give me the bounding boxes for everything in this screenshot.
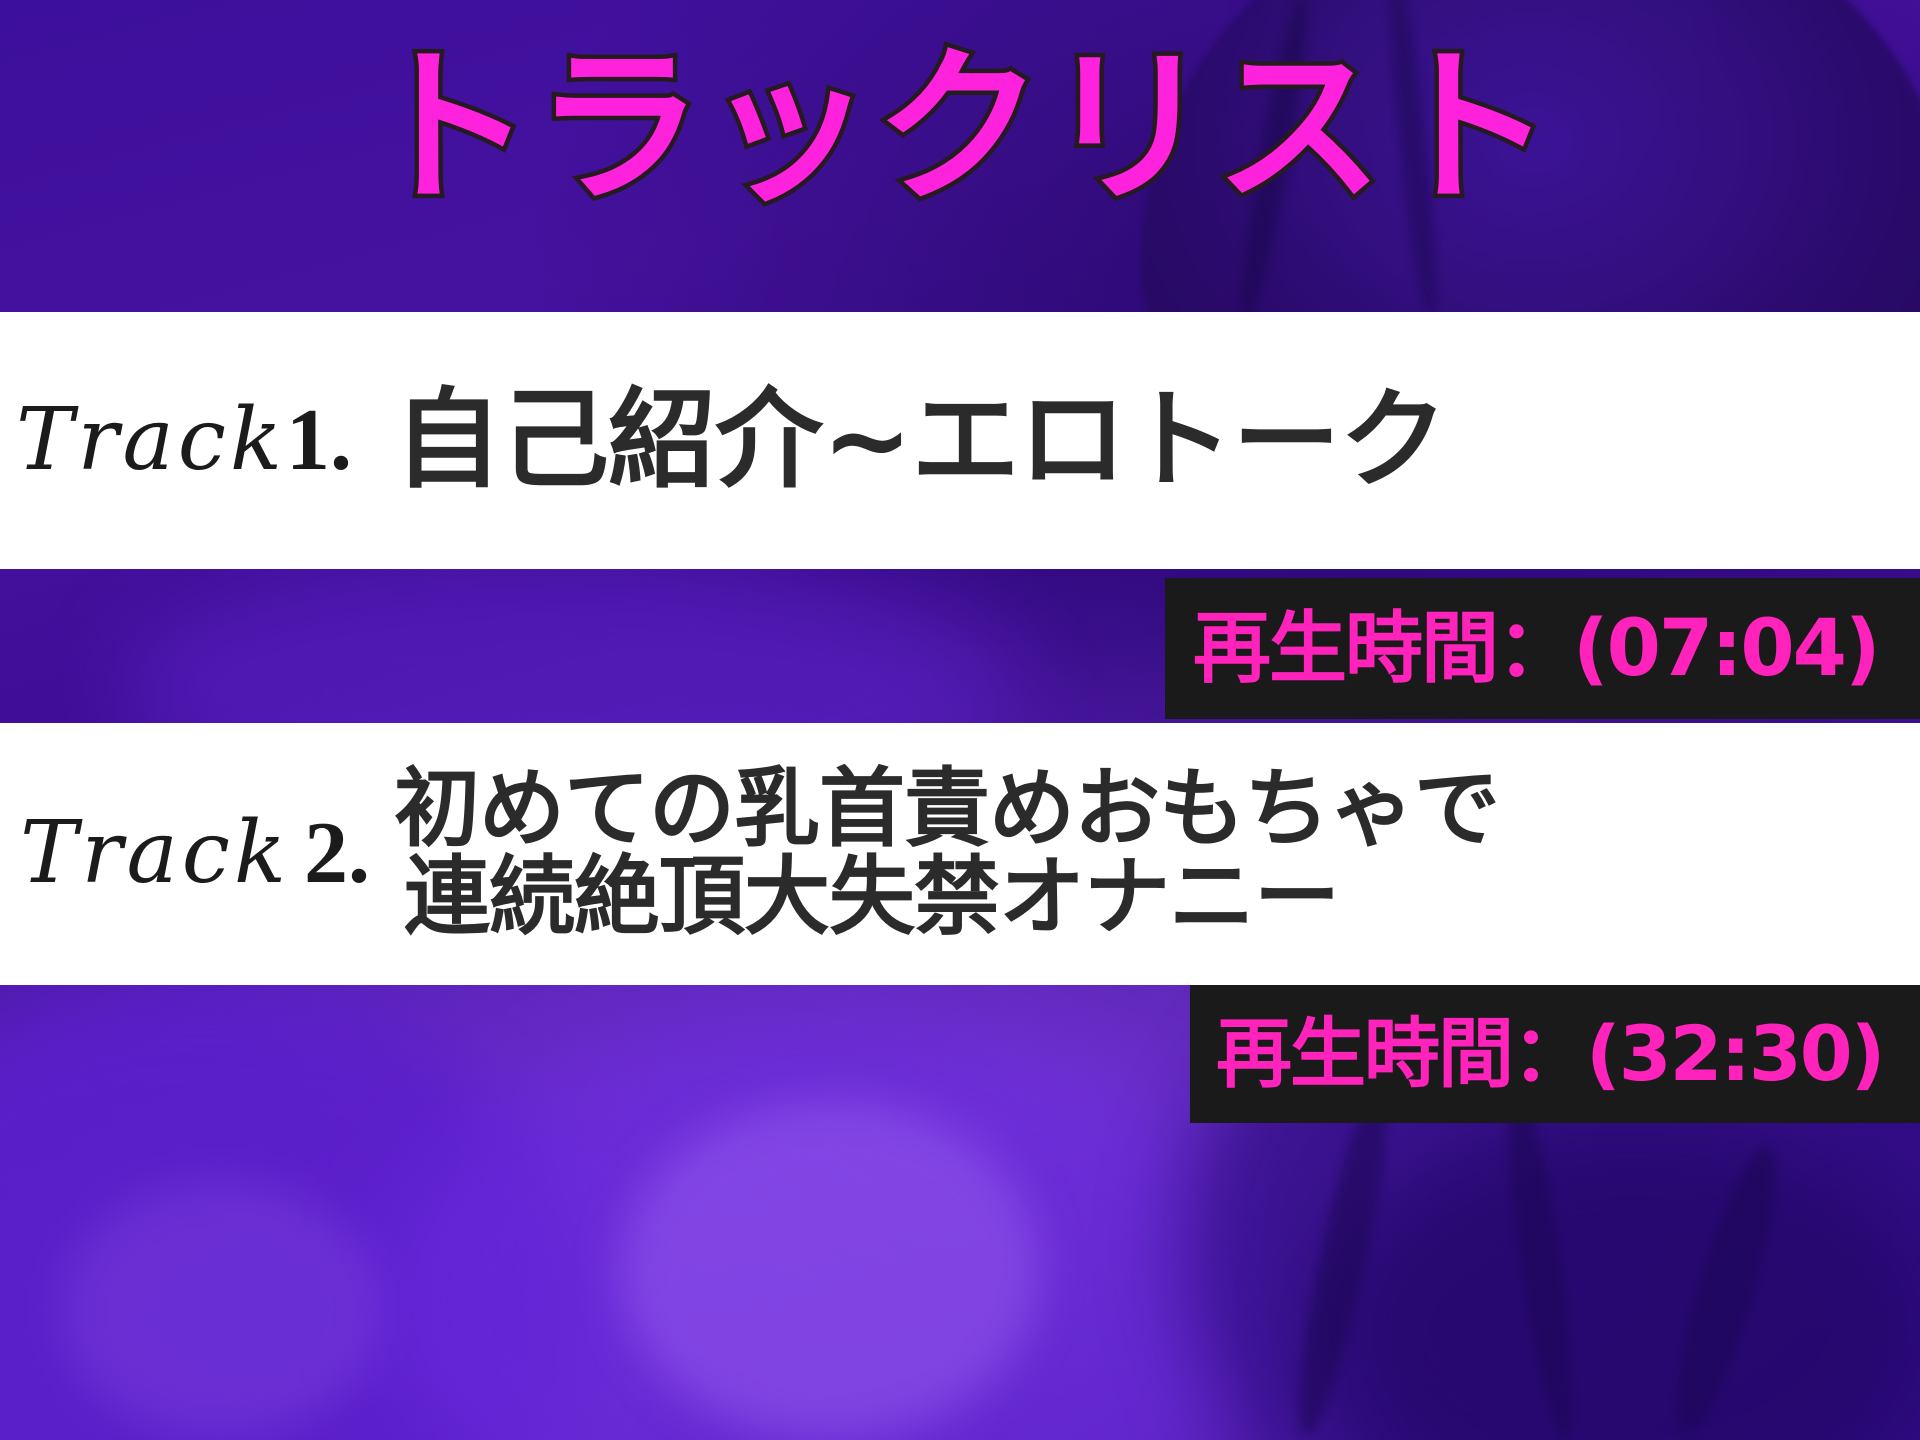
track-label: Track 1.: [0, 397, 352, 485]
duration-text: 再生時間：(07:04): [1165, 610, 1879, 688]
tracklist-slide: トラックリスト Track 1. 自己紹介~エロトーク 再生時間：(07:04)…: [0, 0, 1920, 1440]
page-title: トラックリスト: [0, 44, 1920, 212]
track-number: 1.: [286, 397, 352, 485]
track-word: Track: [16, 397, 286, 483]
track-title-line: 自己紹介~エロトーク: [394, 384, 1920, 497]
track-row[interactable]: Track 1. 自己紹介~エロトーク: [0, 312, 1920, 569]
track-label: Track 2.: [0, 810, 370, 898]
track-title-line: 初めての乳首責めおもちゃで: [394, 766, 1920, 854]
header: トラックリスト: [0, 0, 1920, 312]
background-highlight-a: [620, 1100, 1040, 1440]
track-word: Track: [20, 810, 290, 896]
track-title: 自己紹介~エロトーク: [352, 384, 1920, 497]
duration-badge: 再生時間：(07:04): [1165, 578, 1920, 719]
track-number: 2.: [304, 810, 370, 898]
duration-badge: 再生時間：(32:30): [1190, 985, 1920, 1123]
duration-text: 再生時間：(32:30): [1190, 1016, 1883, 1092]
background-highlight-b: [60, 1180, 380, 1440]
track-row[interactable]: Track 2. 初めての乳首責めおもちゃで 連続絶頂大失禁オナニー: [0, 723, 1920, 985]
track-title: 初めての乳首責めおもちゃで 連続絶頂大失禁オナニー: [370, 766, 1920, 941]
track-title-line: 連続絶頂大失禁オナニー: [394, 854, 1920, 942]
